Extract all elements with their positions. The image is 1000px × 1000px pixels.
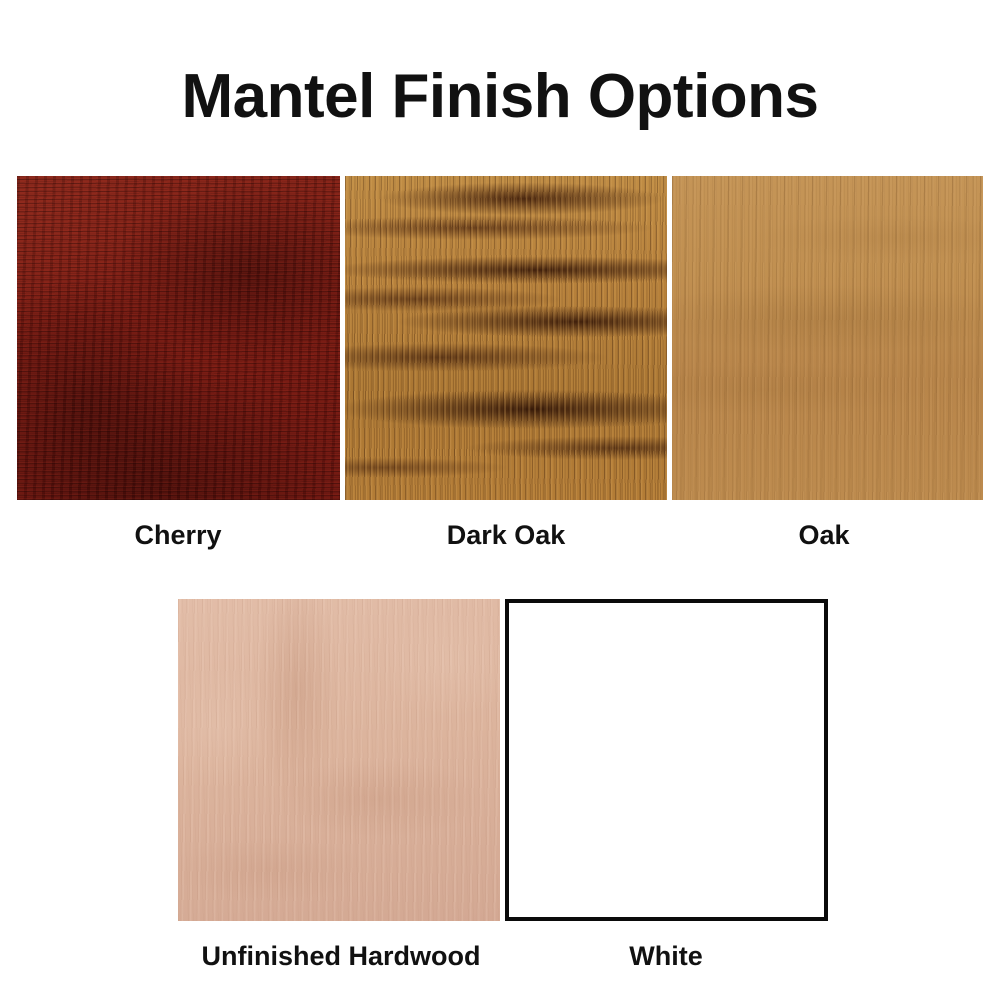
finish-option-oak[interactable] [672, 176, 983, 500]
swatch-row-bottom: Unfinished Hardwood White [178, 599, 828, 921]
finish-option-dark-oak[interactable] [345, 176, 667, 500]
finish-label-cherry: Cherry [134, 520, 221, 551]
finish-label-unfinished-hardwood: Unfinished Hardwood [202, 941, 481, 972]
finish-label-white: White [629, 941, 703, 972]
page-title: Mantel Finish Options [0, 62, 1000, 132]
unfinished-hardwood-swatch-texture[interactable] [178, 599, 500, 921]
swatch-row-top: Cherry Dark Oak Oak [17, 176, 983, 500]
finish-option-unfinished-hardwood[interactable] [178, 599, 500, 921]
finish-label-oak: Oak [798, 520, 849, 551]
finish-option-white[interactable] [505, 599, 828, 921]
oak-swatch-texture[interactable] [672, 176, 983, 500]
finish-option-cherry[interactable] [17, 176, 340, 500]
cherry-swatch-texture[interactable] [17, 176, 340, 500]
finish-options-page: Mantel Finish Options Cherry Dark Oak Oa… [0, 0, 1000, 1000]
white-swatch-panel[interactable] [505, 599, 828, 921]
finish-label-dark-oak: Dark Oak [447, 520, 566, 551]
dark-oak-swatch-texture[interactable] [345, 176, 667, 500]
